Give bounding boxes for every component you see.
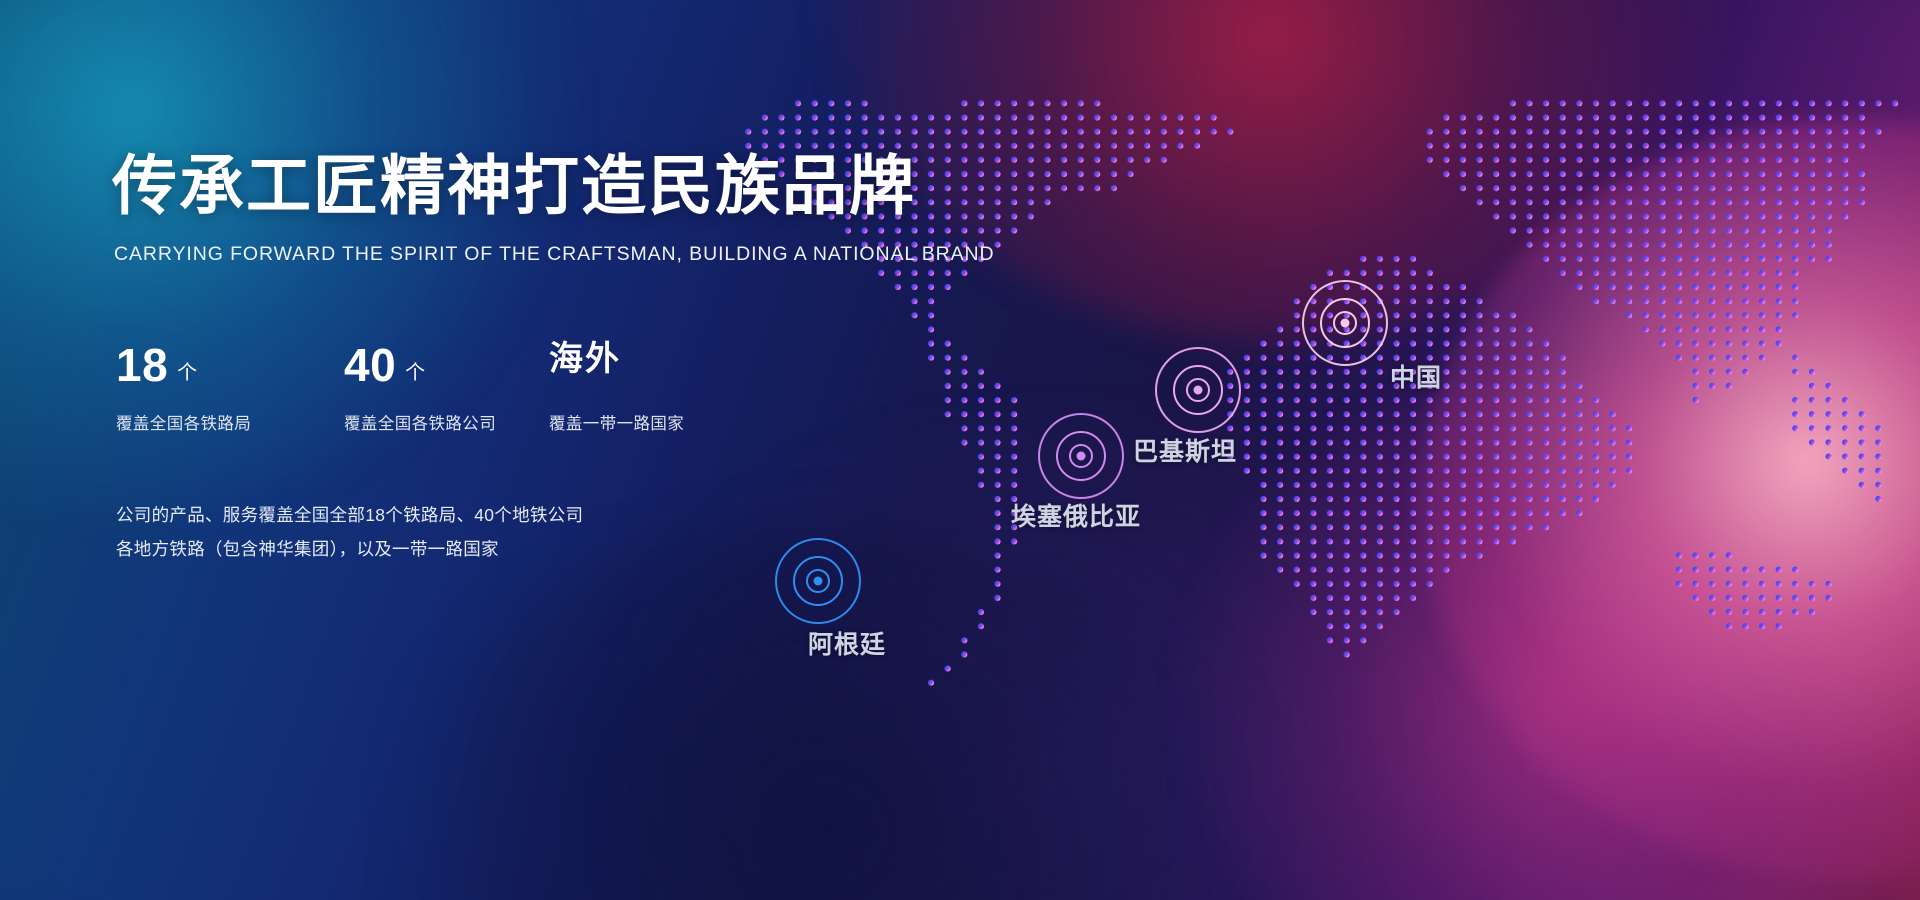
page-title: 传承工匠精神打造民族品牌 <box>112 150 932 223</box>
stat-unit: 个 <box>405 356 425 385</box>
stat-description: 覆盖全国各铁路公司 <box>344 410 549 434</box>
hero-banner: 中国巴基斯坦埃塞俄比亚阿根廷 传承工匠精神打造民族品牌 CARRYING FOR… <box>0 0 1920 900</box>
stat-description: 覆盖一带一路国家 <box>549 410 684 434</box>
stat-value: 40 <box>344 342 396 388</box>
hero-content: 传承工匠精神打造民族品牌 CARRYING FORWARD THE SPIRIT… <box>112 150 932 566</box>
description-paragraph: 公司的产品、服务覆盖全国全部18个铁路局、40个地铁公司 各地方铁路（包含神华集… <box>116 498 932 566</box>
paragraph-line-1: 公司的产品、服务覆盖全国全部18个铁路局、40个地铁公司 <box>116 498 932 532</box>
stat-item-0: 18 个 覆盖全国各铁路局 <box>116 342 344 434</box>
stats-row: 18 个 覆盖全国各铁路局 40 个 覆盖全国各铁路公司 海外 覆盖一带一路国家 <box>116 342 932 434</box>
page-subtitle: CARRYING FORWARD THE SPIRIT OF THE CRAFT… <box>114 243 932 266</box>
stat-item-1: 40 个 覆盖全国各铁路公司 <box>344 342 549 434</box>
paragraph-line-2: 各地方铁路（包含神华集团），以及一带一路国家 <box>116 532 932 566</box>
stat-description: 覆盖全国各铁路局 <box>116 410 344 434</box>
stat-value: 18 <box>116 342 168 388</box>
stat-value: 海外 <box>549 342 621 376</box>
stat-unit: 个 <box>177 356 197 385</box>
stat-item-2: 海外 覆盖一带一路国家 <box>549 342 684 434</box>
